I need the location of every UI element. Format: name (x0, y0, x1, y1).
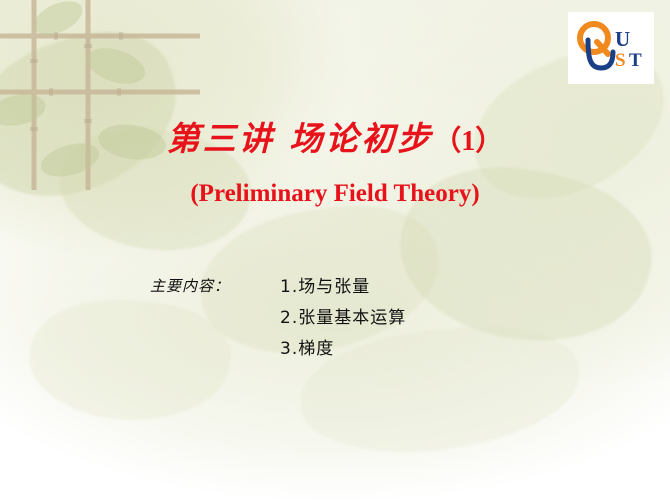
list-item: 1.场与张量 (280, 272, 406, 303)
contents-list: 1.场与张量 2.张量基本运算 3.梯度 (280, 272, 406, 365)
list-item: 2.张量基本运算 (280, 303, 406, 334)
page-title-chinese: 第三讲 场论初步（1） (0, 112, 670, 160)
page-title-chinese-text: 第三讲 场论初步 (167, 119, 434, 158)
contents-label: 主要内容： (150, 275, 230, 296)
qust-logo-mark: U S T (571, 18, 651, 78)
bamboo-lattice-decoration (0, 0, 200, 190)
list-item: 3.梯度 (280, 334, 406, 365)
page-title-number: （1） (433, 126, 503, 157)
slide-root: U S T 第三讲 场论初步（1） (Preliminary Field The… (0, 0, 670, 503)
page-title-english: (Preliminary Field Theory) (0, 180, 670, 208)
qust-logo: U S T (568, 12, 654, 84)
svg-text:T: T (629, 50, 642, 71)
svg-text:U: U (615, 27, 630, 51)
svg-text:S: S (615, 50, 626, 71)
